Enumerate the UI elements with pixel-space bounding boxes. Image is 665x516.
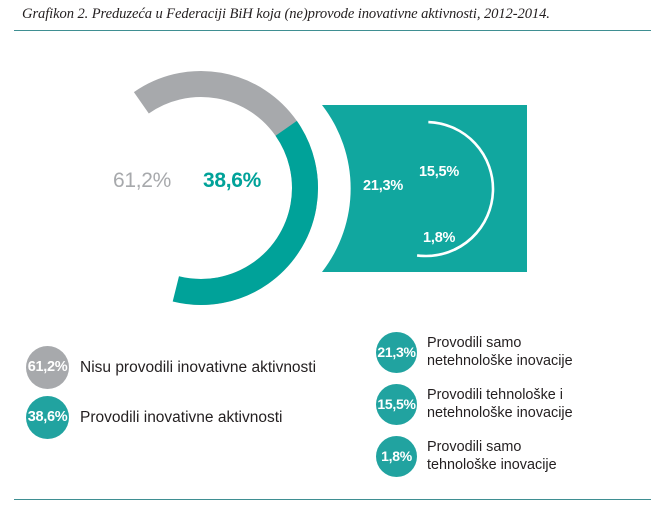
legend-bullet-38-6: 38,6% xyxy=(26,396,69,439)
chart-figure: Grafikon 2. Preduzeća u Federaciji BiH k… xyxy=(0,0,665,516)
legend-label-samo-netehnoloske: Provodili samo netehnološke inovacije xyxy=(427,334,573,370)
legend-item-samo-tehnoloske: 1,8% Provodili samo tehnološke inovacije xyxy=(376,431,656,481)
legend-right: 21,3% Provodili samo netehnološke inovac… xyxy=(376,327,656,483)
legend-bullet-1-8: 1,8% xyxy=(376,436,417,477)
ring-label-15-5: 15,5% xyxy=(419,164,459,180)
ring-label-21-3: 21,3% xyxy=(363,178,403,194)
legend-item-provodili: 38,6% Provodili inovativne aktivnosti xyxy=(26,395,366,439)
footer-divider-bottom xyxy=(14,499,651,500)
chart-graphic: 61,2% 38,6% 21,3% 15,5% 1,8% xyxy=(0,34,665,314)
chart-svg xyxy=(0,34,665,314)
legend-item-samo-netehnoloske: 21,3% Provodili samo netehnološke inovac… xyxy=(376,327,656,377)
donut-label-teal: 38,6% xyxy=(203,169,261,193)
legend-bullet-15-5: 15,5% xyxy=(376,384,417,425)
teal-panel xyxy=(318,105,527,272)
ring-label-1-8: 1,8% xyxy=(423,230,455,246)
legend-label-nisu-provodili: Nisu provodili inovativne aktivnosti xyxy=(80,358,316,377)
legend-bullet-21-3: 21,3% xyxy=(376,332,417,373)
legend-left: 61,2% Nisu provodili inovativne aktivnos… xyxy=(26,345,366,445)
legend-bullet-61-2: 61,2% xyxy=(26,346,69,389)
legend-item-tehnoloske-i-netehnoloske: 15,5% Provodili tehnološke i netehnološk… xyxy=(376,379,656,429)
donut-label-gray: 61,2% xyxy=(113,169,171,193)
title-divider-top xyxy=(14,30,651,31)
legend-label-tehnoloske-i-netehnoloske: Provodili tehnološke i netehnološke inov… xyxy=(427,386,573,422)
legend-label-provodili: Provodili inovativne aktivnosti xyxy=(80,408,282,427)
chart-title: Grafikon 2. Preduzeća u Federaciji BiH k… xyxy=(22,5,652,23)
legend-label-samo-tehnoloske: Provodili samo tehnološke inovacije xyxy=(427,438,557,474)
outer-donut xyxy=(56,43,346,314)
legend-item-nisu-provodili: 61,2% Nisu provodili inovativne aktivnos… xyxy=(26,345,366,389)
